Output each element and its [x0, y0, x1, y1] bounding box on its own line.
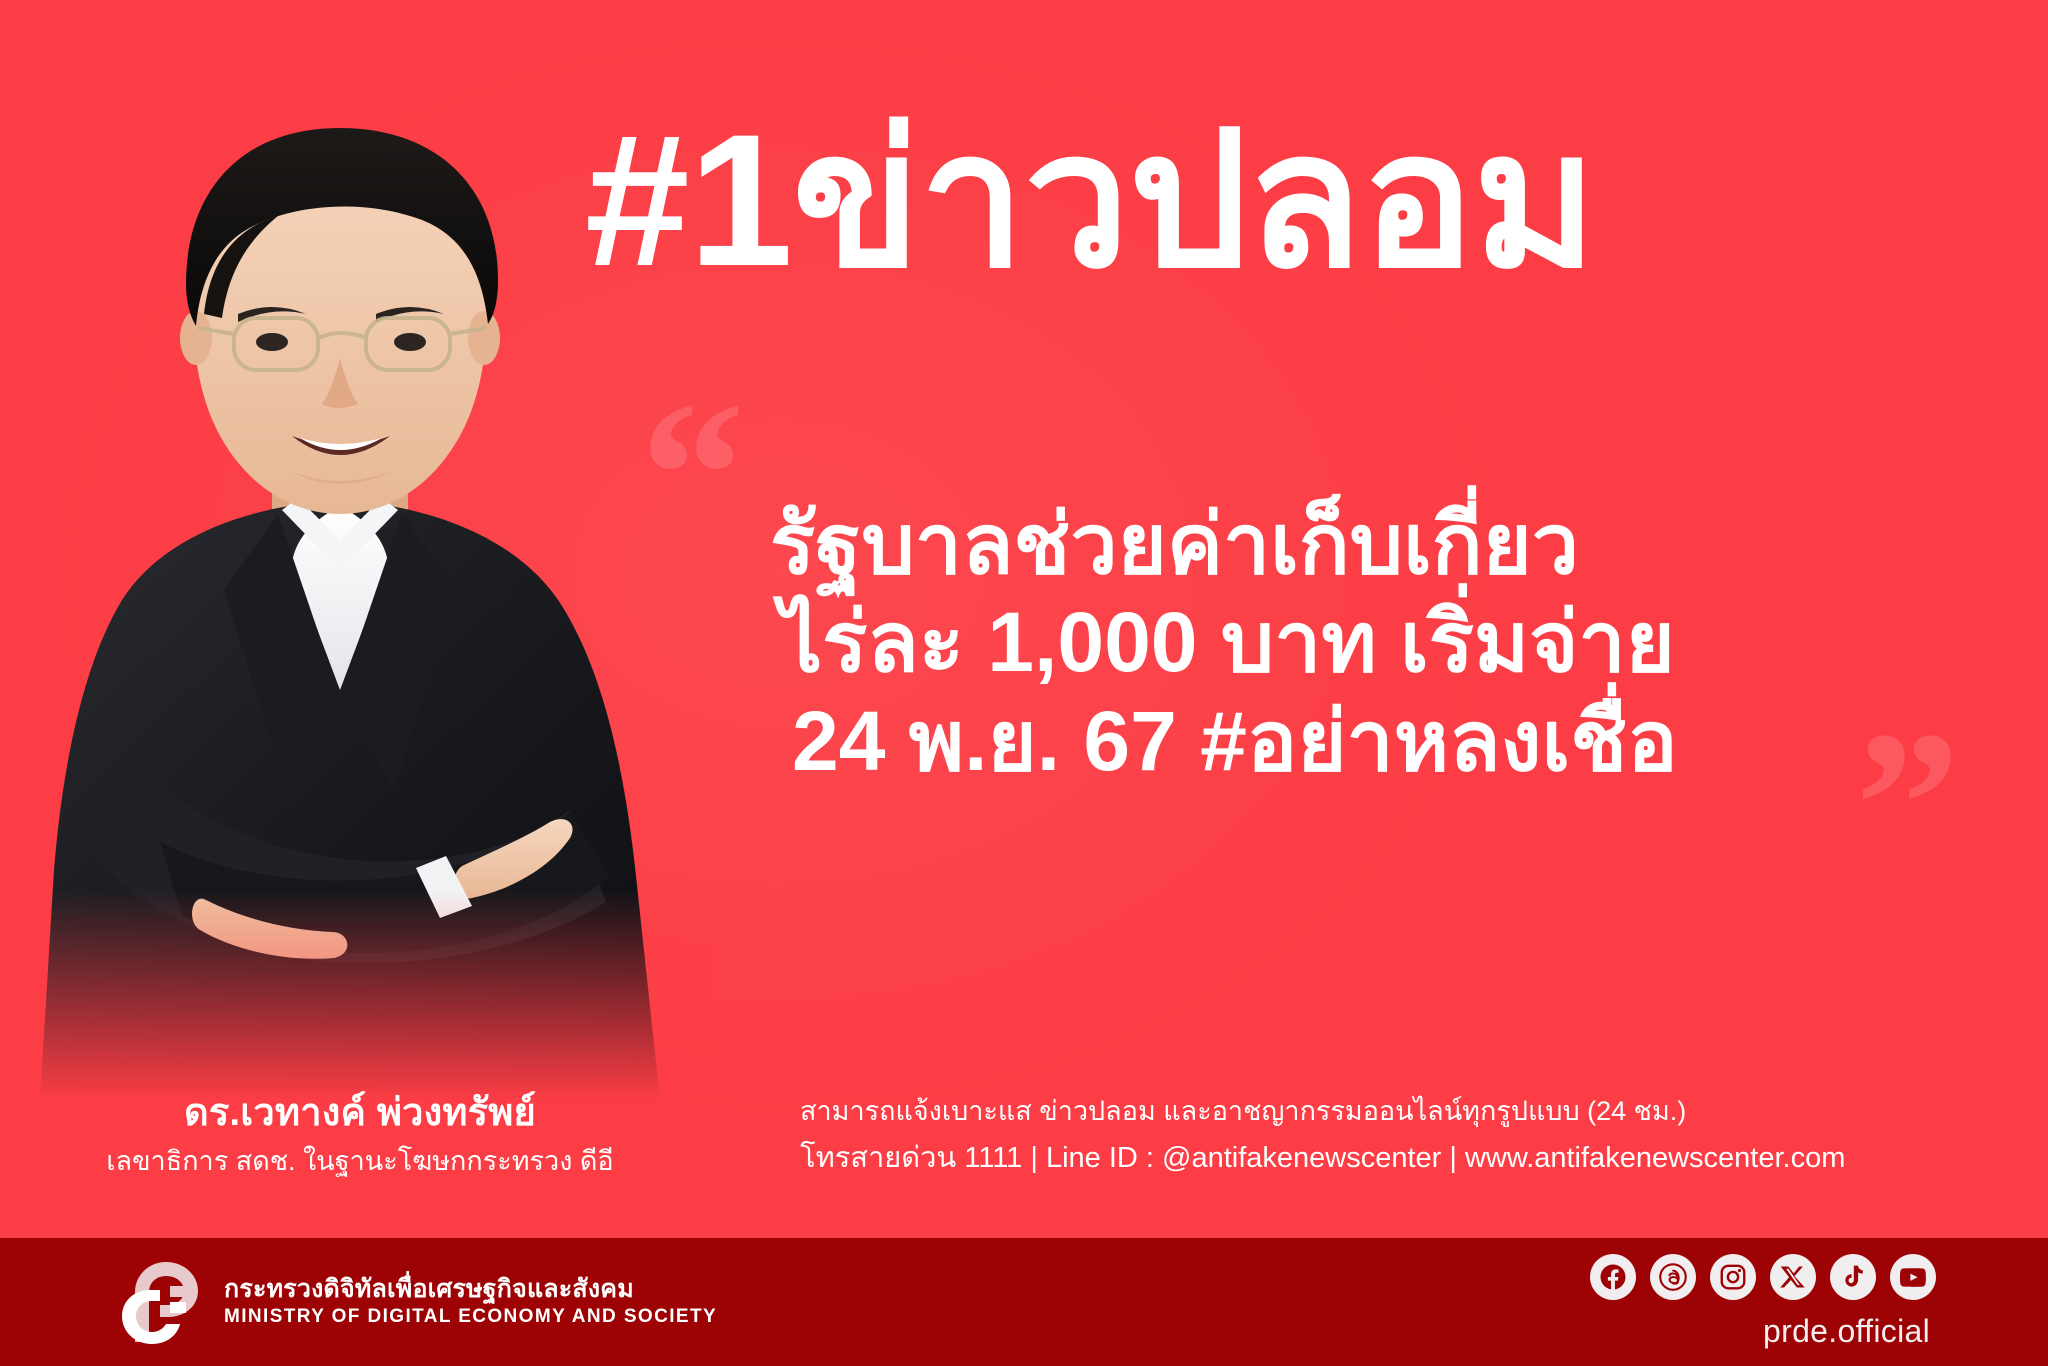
ministry-logo-text: กระทรวงดิจิทัลเพื่อเศรษฐกิจและสังคม MINI…	[224, 1275, 717, 1330]
facebook-icon[interactable]	[1590, 1254, 1636, 1300]
fake-news-claim-quote: รัฐบาลช่วยค่าเก็บเกี่ยว ไร่ละ 1,000 บาท …	[770, 495, 1950, 790]
ministry-logo-block: กระทรวงดิจิทัลเพื่อเศรษฐกิจและสังคม MINI…	[120, 1256, 717, 1348]
threads-icon[interactable]	[1650, 1254, 1696, 1300]
contact-channels-line: โทรสายด่วน 1111 | Line ID : @antifakenew…	[800, 1137, 1845, 1179]
ministry-logo-icon	[120, 1256, 206, 1348]
fake-news-announcement-poster: #1ข่าวปลอม “ ” รัฐบาลช่วยค่าเก็บเกี่ยว ไ…	[0, 0, 2048, 1366]
quote-open-mark-icon: “	[640, 370, 745, 580]
footer-bar: กระทรวงดิจิทัลเพื่อเศรษฐกิจและสังคม MINI…	[0, 1238, 2048, 1366]
headline-hashtag-fake-news: #1ข่าวปลอม	[585, 106, 1596, 294]
youtube-icon[interactable]	[1890, 1254, 1936, 1300]
quote-line-3: 24 พ.ย. 67 #อย่าหลงเชื่อ	[792, 692, 1950, 790]
social-handle: prde.official	[1763, 1312, 1930, 1350]
speaker-name: ดร.เวทางค์ พ่วงทรัพย์	[40, 1090, 680, 1138]
ministry-name-thai: กระทรวงดิจิทัลเพื่อเศรษฐกิจและสังคม	[224, 1275, 717, 1304]
report-contact-block: สามารถแจ้งเบาะแส ข่าวปลอม และอาชญากรรมออ…	[800, 1092, 1845, 1179]
quote-line-2: ไร่ละ 1,000 บาท เริ่มจ่าย	[780, 593, 1950, 691]
quote-line-1: รัฐบาลช่วยค่าเก็บเกี่ยว	[770, 495, 1950, 593]
speaker-credit: ดร.เวทางค์ พ่วงทรัพย์ เลขาธิการ สดช. ในฐ…	[40, 1090, 680, 1179]
ministry-name-english: MINISTRY OF DIGITAL ECONOMY AND SOCIETY	[224, 1306, 717, 1329]
contact-instruction-line: สามารถแจ้งเบาะแส ข่าวปลอม และอาชญากรรมออ…	[800, 1092, 1845, 1131]
tiktok-icon[interactable]	[1830, 1254, 1876, 1300]
speaker-role: เลขาธิการ สดช. ในฐานะโฆษกกระทรวง ดีอี	[40, 1144, 680, 1179]
instagram-icon[interactable]	[1710, 1254, 1756, 1300]
x-twitter-icon[interactable]	[1770, 1254, 1816, 1300]
social-links	[1590, 1254, 1936, 1300]
